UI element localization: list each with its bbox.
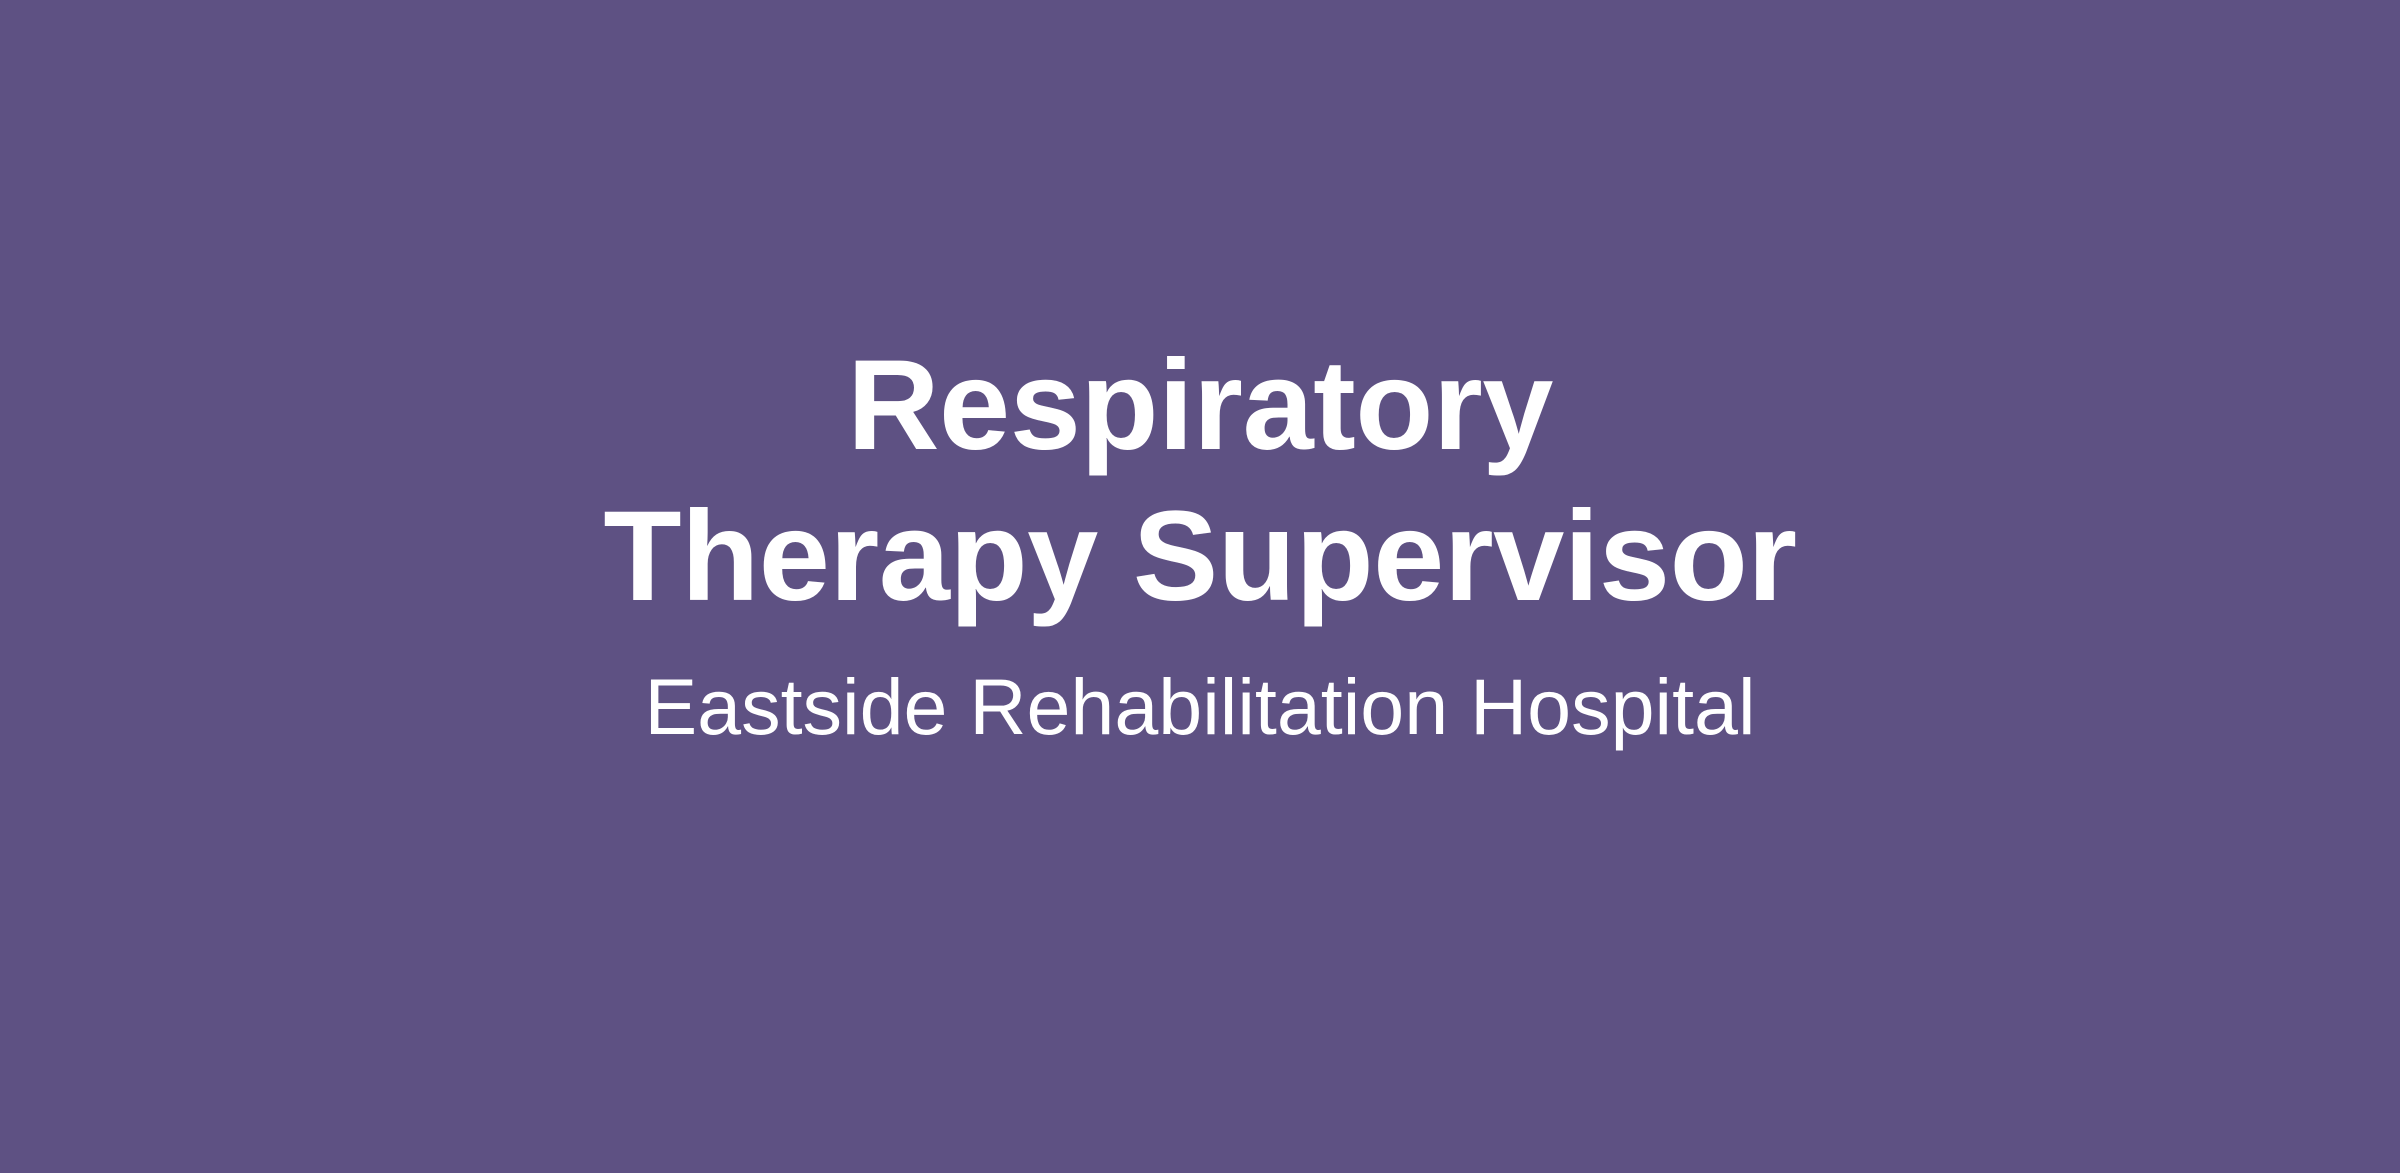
job-posting-hero-banner: Respiratory Therapy Supervisor Eastside … [0,0,2400,1173]
job-title: Respiratory Therapy Supervisor [600,330,1800,632]
hero-text-block: Respiratory Therapy Supervisor Eastside … [500,330,1900,755]
organization-name: Eastside Rehabilitation Hospital [500,660,1900,755]
